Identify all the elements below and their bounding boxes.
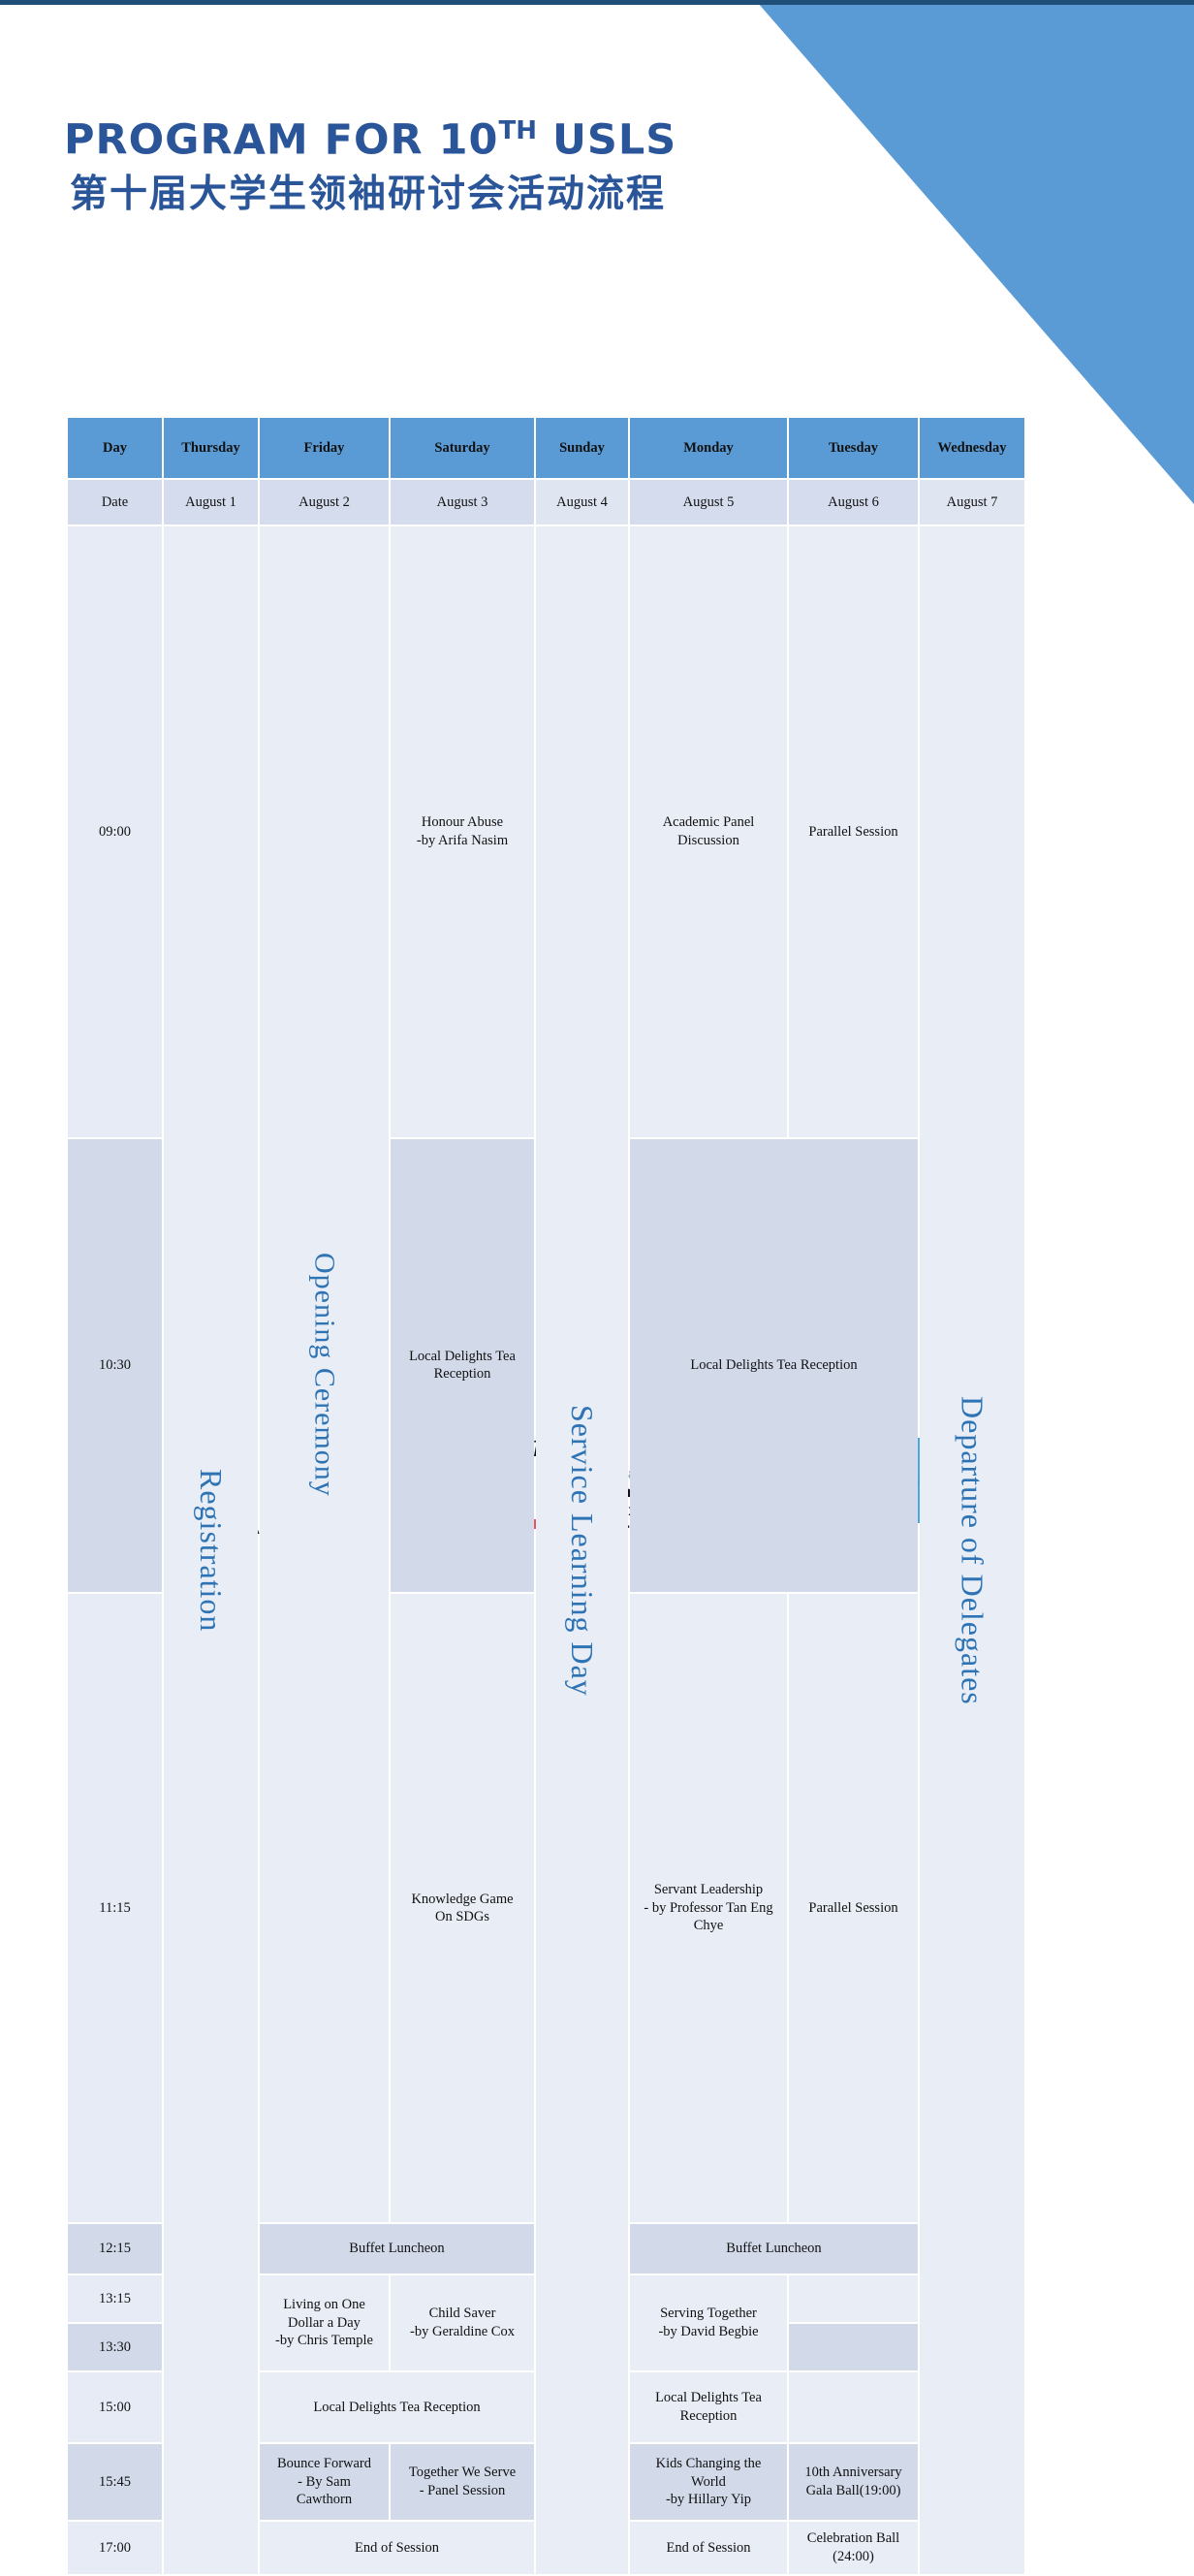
header-sunday: Sunday: [536, 418, 628, 478]
page-title-tail: USLS: [537, 115, 676, 164]
table-row: 09:00 Registration Opening Ceremony Hono…: [68, 526, 1024, 1137]
header-friday: Friday: [260, 418, 389, 478]
top-rule: [0, 0, 1194, 5]
time-1545: 15:45: [68, 2444, 162, 2520]
cell-mon-1315: Serving Together -by David Begbie: [630, 2275, 787, 2370]
page-title: PROGRAM FOR 10TH USLS: [64, 118, 676, 162]
program-schedule-table: Day Thursday Friday Saturday Sunday Mond…: [66, 416, 1026, 2576]
time-1315: 13:15: [68, 2275, 162, 2322]
header-wednesday: Wednesday: [920, 418, 1024, 478]
vertical-label-registration: Registration: [168, 706, 254, 2396]
vertical-label-service-learning-day: Service Learning Day: [540, 706, 624, 2396]
cell-mon-1115: Servant Leadership - by Professor Tan En…: [630, 1594, 787, 2222]
time-1215: 12:15: [68, 2224, 162, 2274]
header-monday: Monday: [630, 418, 787, 478]
cell-friday-opening-ceremony: Opening Ceremony: [260, 526, 389, 2222]
cell-mon-0900: Academic Panel Discussion: [630, 526, 787, 1137]
cell-tue-1500-empty: [789, 2372, 918, 2442]
cell-fri-1315: Living on One Dollar a Day -by Chris Tem…: [260, 2275, 389, 2370]
cell-tue-0900: Parallel Session: [789, 526, 918, 1137]
header-day: Day: [68, 418, 162, 478]
date-august-6: August 6: [789, 480, 918, 525]
page-title-main: PROGRAM FOR 10: [64, 115, 498, 164]
time-1700: 17:00: [68, 2522, 162, 2574]
date-august-3: August 3: [391, 480, 534, 525]
vertical-label-opening-ceremony: Opening Ceremony: [264, 529, 385, 2219]
heading-block: PROGRAM FOR 10TH USLS 第十届大学生领袖研讨会活动流程: [64, 118, 676, 215]
cell-tue-1700: Celebration Ball (24:00): [789, 2522, 918, 2574]
cell-mon-1545: Kids Changing the World -by Hillary Yip: [630, 2444, 787, 2520]
cell-sat-1115: Knowledge Game On SDGs: [391, 1594, 534, 2222]
cell-mon-tue-1030: Local Delights Tea Reception: [630, 1139, 918, 1593]
time-1330: 13:30: [68, 2324, 162, 2370]
cell-fri-sat-1700: End of Session: [260, 2522, 534, 2574]
cell-sat-1545: Together We Serve - Panel Session: [391, 2444, 534, 2520]
date-august-7: August 7: [920, 480, 1024, 525]
cell-fri-1545: Bounce Forward - By Sam Cawthorn: [260, 2444, 389, 2520]
cell-sat-0900: Honour Abuse -by Arifa Nasim: [391, 526, 534, 1137]
time-0900: 09:00: [68, 526, 162, 1137]
table-header-row: Day Thursday Friday Saturday Sunday Mond…: [68, 418, 1024, 478]
date-label: Date: [68, 480, 162, 525]
cell-mon-1700: End of Session: [630, 2522, 787, 2574]
cell-sat-1315: Child Saver -by Geraldine Cox: [391, 2275, 534, 2370]
header-saturday: Saturday: [391, 418, 534, 478]
cell-sat-1030: Local Delights Tea Reception: [391, 1139, 534, 1593]
cell-sunday-service-learning: Service Learning Day: [536, 526, 628, 2574]
table-date-row: Date August 1 August 2 August 3 August 4…: [68, 480, 1024, 525]
cell-thursday-registration: Registration: [164, 526, 258, 2574]
cell-tue-1545: 10th Anniversary Gala Ball(19:00): [789, 2444, 918, 2520]
time-1500: 15:00: [68, 2372, 162, 2442]
page-subtitle-chinese: 第十届大学生领袖研讨会活动流程: [70, 175, 676, 215]
cell-fri-sat-1215: Buffet Luncheon: [260, 2224, 534, 2274]
date-august-1: August 1: [164, 480, 258, 525]
cell-tue-1330-empty: [789, 2324, 918, 2370]
page-title-superscript: TH: [498, 116, 537, 145]
cell-mon-1500: Local Delights Tea Reception: [630, 2372, 787, 2442]
cell-tue-1315-empty: [789, 2275, 918, 2322]
cell-tue-1115: Parallel Session: [789, 1594, 918, 2222]
cell-fri-sat-1500: Local Delights Tea Reception: [260, 2372, 534, 2442]
vertical-label-departure-of-delegates: Departure of Delegates: [924, 706, 1021, 2396]
cell-wednesday-departure: Departure of Delegates: [920, 526, 1024, 2574]
time-1115: 11:15: [68, 1594, 162, 2222]
date-august-2: August 2: [260, 480, 389, 525]
time-1030: 10:30: [68, 1139, 162, 1593]
cell-mon-tue-1215: Buffet Luncheon: [630, 2224, 918, 2274]
date-august-4: August 4: [536, 480, 628, 525]
header-tuesday: Tuesday: [789, 418, 918, 478]
date-august-5: August 5: [630, 480, 787, 525]
header-thursday: Thursday: [164, 418, 258, 478]
